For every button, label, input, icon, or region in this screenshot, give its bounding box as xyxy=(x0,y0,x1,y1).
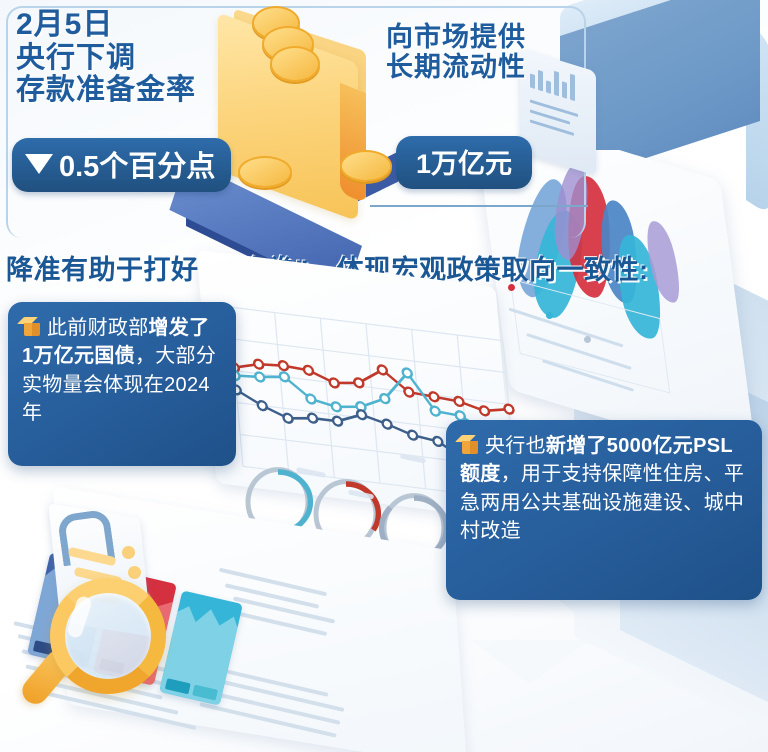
rate-cut-badge-value: 0.5个百分点 xyxy=(59,143,215,185)
data-point xyxy=(480,406,490,416)
data-point xyxy=(430,406,440,416)
info-box-psl-text: 央行也新增了5000亿元PSL额度，用于支持保障性住房、平急两用公共基础设施建设… xyxy=(460,435,744,542)
data-point xyxy=(255,372,265,382)
report-dot-gray xyxy=(584,336,591,343)
data-point xyxy=(504,404,514,414)
coin-icon xyxy=(238,156,292,188)
data-point xyxy=(329,378,339,388)
cube-icon xyxy=(22,317,42,337)
data-point xyxy=(333,416,343,426)
data-point xyxy=(308,413,318,423)
data-point xyxy=(279,361,289,371)
data-point xyxy=(331,402,341,412)
folder-spine xyxy=(340,83,366,204)
data-point xyxy=(433,436,443,446)
data-point xyxy=(377,365,387,375)
header-right-line2: 长期流动性 xyxy=(386,52,676,82)
info-box-fiscal-text: 此前财政部增发了1万亿元国债，大部分实物量会体现在2024年 xyxy=(22,317,216,424)
data-point xyxy=(382,419,392,429)
coin-icon xyxy=(340,150,392,182)
triangle-down-icon xyxy=(25,154,53,174)
data-point xyxy=(404,387,414,397)
rate-cut-badge: 0.5个百分点 xyxy=(12,138,231,192)
magnifier-icon xyxy=(28,570,148,710)
header-right-line1: 向市场提供 xyxy=(386,22,676,52)
data-point xyxy=(254,359,264,369)
header-left-line3: 存款准备金率 xyxy=(16,74,316,106)
data-point xyxy=(380,394,390,404)
data-point xyxy=(304,365,314,375)
info-box-psl: 央行也新增了5000亿元PSL额度，用于支持保障性住房、平急两用公共基础设施建设… xyxy=(446,420,762,600)
data-point xyxy=(283,413,293,423)
info-box-fiscal: 此前财政部增发了1万亿元国债，大部分实物量会体现在2024年 xyxy=(8,302,236,466)
data-point xyxy=(354,378,364,388)
header-left-line1: 2月5日 xyxy=(16,8,316,42)
liquidity-badge-value: 1万亿元 xyxy=(416,142,512,181)
data-point xyxy=(280,372,290,382)
report-dot-cyan xyxy=(546,312,553,319)
header-left-text: 2月5日 央行下调 存款准备金率 xyxy=(16,8,316,107)
magnifier-lens xyxy=(50,578,166,694)
data-point xyxy=(402,368,412,378)
header-right-text: 向市场提供 长期流动性 xyxy=(386,22,676,82)
data-point xyxy=(306,394,316,404)
header-left-line2: 央行下调 xyxy=(16,42,316,74)
liquidity-badge: 1万亿元 xyxy=(396,136,532,189)
data-point xyxy=(357,410,367,420)
cube-icon xyxy=(460,435,480,455)
data-point xyxy=(408,430,418,440)
data-point xyxy=(257,401,267,411)
data-point xyxy=(454,396,464,406)
background-triangle xyxy=(470,640,590,684)
infographic-canvas: 2月5日 央行下调 存款准备金率 0.5个百分点 向市场提供 长期流动性 1万亿… xyxy=(0,0,768,752)
data-point xyxy=(429,392,439,402)
